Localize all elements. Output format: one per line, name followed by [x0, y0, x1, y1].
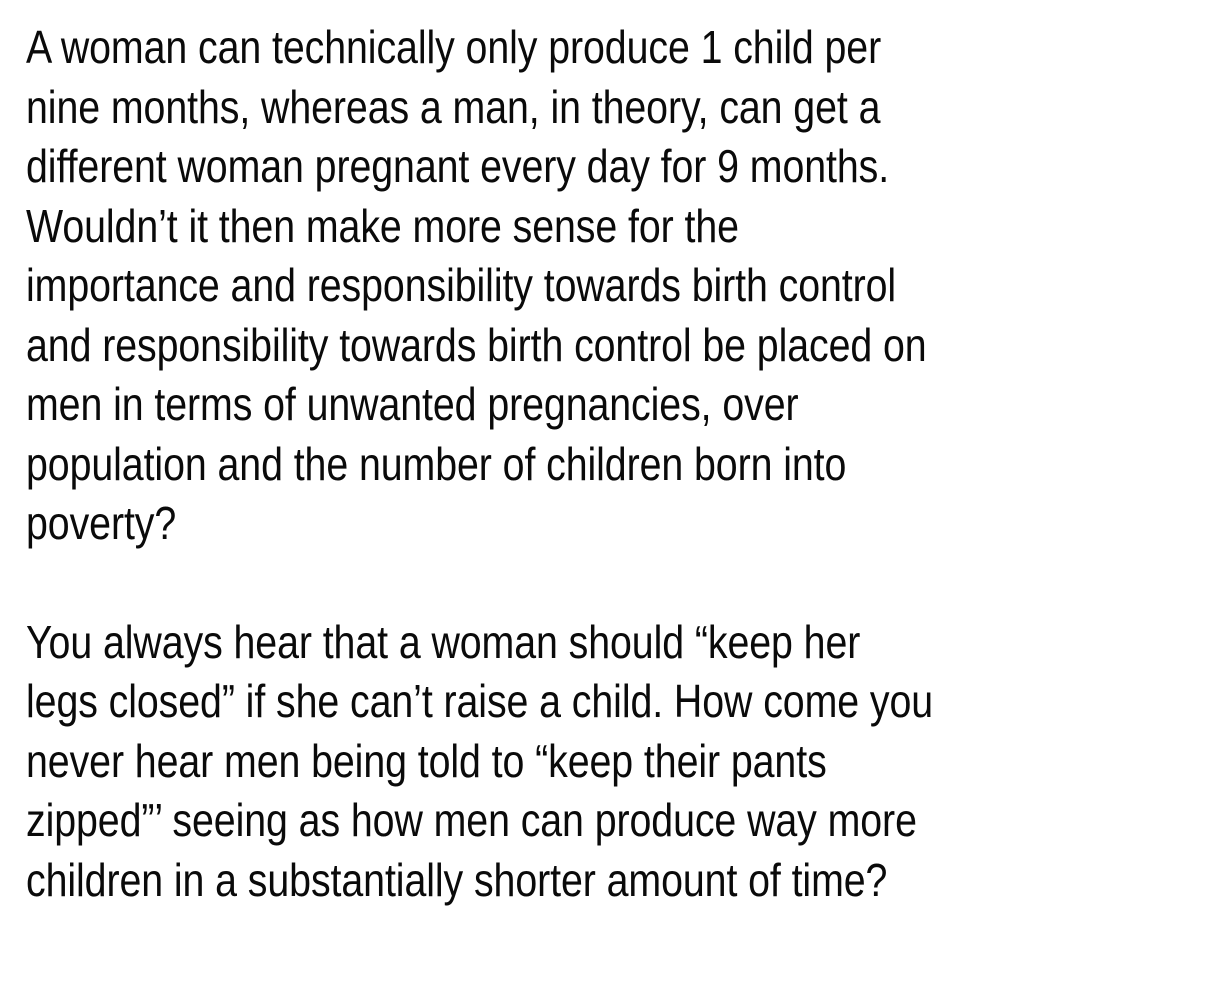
text-line: A woman can technically only produce 1 c…	[26, 18, 1206, 78]
text-line: children in a substantially shorter amou…	[26, 851, 1206, 911]
text-line: different woman pregnant every day for 9…	[26, 137, 1206, 197]
text-line: legs closed” if she can’t raise a child.…	[26, 672, 1206, 732]
text-line: You always hear that a woman should “kee…	[26, 613, 1206, 673]
text-line: Wouldn’t it then make more sense for the	[26, 197, 1206, 257]
paragraph-2: You always hear that a woman should “kee…	[26, 613, 1206, 911]
paragraph-1: A woman can technically only produce 1 c…	[26, 18, 1206, 554]
text-line: population and the number of children bo…	[26, 435, 1206, 495]
text-line: zipped”’ seeing as how men can produce w…	[26, 791, 1206, 851]
text-line: importance and responsibility towards bi…	[26, 256, 1206, 316]
text-post-body: A woman can technically only produce 1 c…	[26, 18, 1206, 910]
text-line: nine months, whereas a man, in theory, c…	[26, 78, 1206, 138]
text-line: men in terms of unwanted pregnancies, ov…	[26, 375, 1206, 435]
text-line: never hear men being told to “keep their…	[26, 732, 1206, 792]
text-line: and responsibility towards birth control…	[26, 316, 1206, 376]
text-line: poverty?	[26, 494, 1206, 554]
